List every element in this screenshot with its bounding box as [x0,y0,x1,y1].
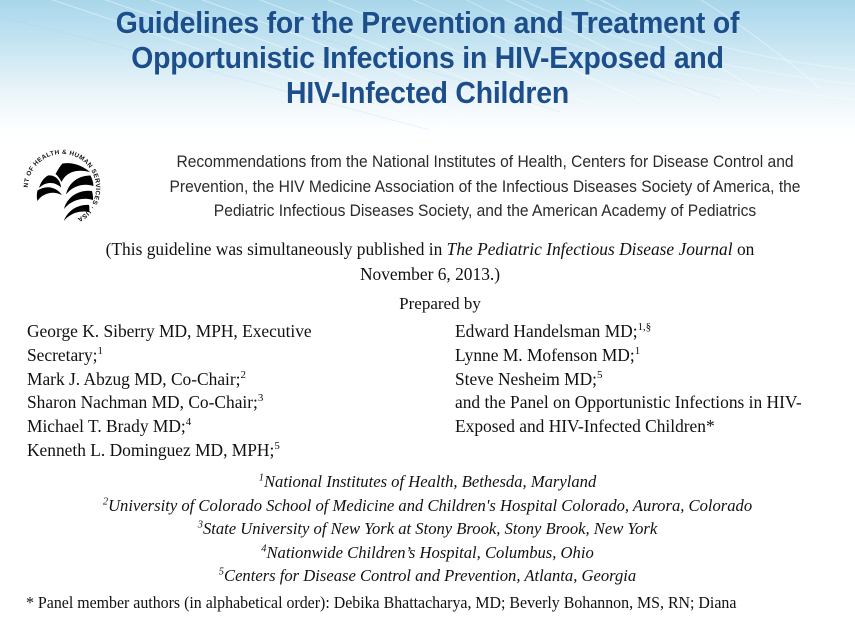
author-entry: Lynne M. Mofenson MD;1 [455,344,855,368]
affiliation-text: University of Colorado School of Medicin… [108,496,752,515]
title-line-2: Opportunistic Infections in HIV-Exposed … [30,41,825,76]
author-affiliation-marker: 1,§ [638,321,652,333]
author-affiliation-marker: 3 [258,393,263,405]
subtitle-line-1: Recommendations from the National Instit… [138,150,832,175]
author-name: Sharon Nachman MD, Co-Chair; [27,392,258,412]
author-name: Michael T. Brady MD; [27,416,186,436]
subtitle-line-3: Pediatric Infectious Diseases Society, a… [138,199,832,224]
panel-member-footnote: * Panel member authors (in alphabetical … [26,592,826,614]
recommendations-subtitle: Recommendations from the National Instit… [138,150,832,224]
page-title: Guidelines for the Prevention and Treatm… [30,6,825,111]
affiliation-item: 1National Institutes of Health, Bethesda… [10,470,845,494]
affiliation-item: 4Nationwide Children’s Hospital, Columbu… [10,541,845,565]
affiliation-text: National Institutes of Health, Bethesda,… [264,472,596,491]
author-entry: Steve Nesheim MD;5 [455,368,855,392]
title-line-3: HIV-Infected Children [30,76,825,111]
affiliation-item: 3State University of New York at Stony B… [10,517,845,541]
publication-note: (This guideline was simultaneously publi… [60,237,800,287]
author-name: Edward Handelsman MD; [455,321,638,341]
subtitle-line-2: Prevention, the HIV Medicine Association… [138,175,832,200]
affiliation-list: 1National Institutes of Health, Bethesda… [10,470,845,588]
author-entry: Edward Handelsman MD;1,§ [455,320,855,344]
author-entry: Sharon Nachman MD, Co-Chair;3 [27,391,447,415]
author-affiliation-marker: 2 [241,369,246,381]
author-affiliation-marker: 1 [98,345,103,357]
author-entry: Secretary;1 [27,344,447,368]
pub-note-date: November 6, 2013.) [360,264,500,284]
author-name: Mark J. Abzug MD, Co-Chair; [27,369,241,389]
author-list: George K. Siberry MD, MPH, Executive Sec… [0,320,855,460]
affiliation-item: 5Centers for Disease Control and Prevent… [10,564,845,588]
prepared-by-label: Prepared by [0,294,855,314]
author-affiliation-marker: 5 [274,440,279,452]
affiliation-item: 2University of Colorado School of Medici… [10,494,845,518]
author-name: Lynne M. Mofenson MD; [455,345,635,365]
affiliation-text: State University of New York at Stony Br… [203,519,657,538]
author-affiliation-marker: 5 [597,369,602,381]
hhs-seal-logo: DEPARTMENT OF HEALTH & HUMAN SERVICES · … [18,139,106,233]
panel-credit: and the Panel on Opportunistic Infection… [455,391,855,439]
pub-note-suffix: on [733,239,755,259]
journal-name: The Pediatric Infectious Disease Journal [447,239,733,259]
author-name: Steve Nesheim MD; [455,369,597,389]
affiliation-text: Centers for Disease Control and Preventi… [224,566,636,585]
author-affiliation-marker: 1 [635,345,640,357]
author-entry: George K. Siberry MD, MPH, Executive [27,320,447,344]
author-entry: Michael T. Brady MD;4 [27,415,447,439]
author-entry: Mark J. Abzug MD, Co-Chair;2 [27,368,447,392]
author-column-right: Edward Handelsman MD;1,§ Lynne M. Mofens… [455,320,855,439]
author-entry: Kenneth L. Dominguez MD, MPH;5 [27,439,447,463]
author-column-left: George K. Siberry MD, MPH, Executive Sec… [27,320,447,463]
pub-note-prefix: (This guideline was simultaneously publi… [106,239,447,259]
title-line-1: Guidelines for the Prevention and Treatm… [30,6,825,41]
header-banner: Guidelines for the Prevention and Treatm… [0,0,855,142]
affiliation-text: Nationwide Children’s Hospital, Columbus… [266,543,593,562]
author-name: George K. Siberry MD, MPH, Executive [27,321,312,341]
author-name-cont: Secretary; [27,345,98,365]
author-name: Kenneth L. Dominguez MD, MPH; [27,440,274,460]
author-affiliation-marker: 4 [186,416,191,428]
